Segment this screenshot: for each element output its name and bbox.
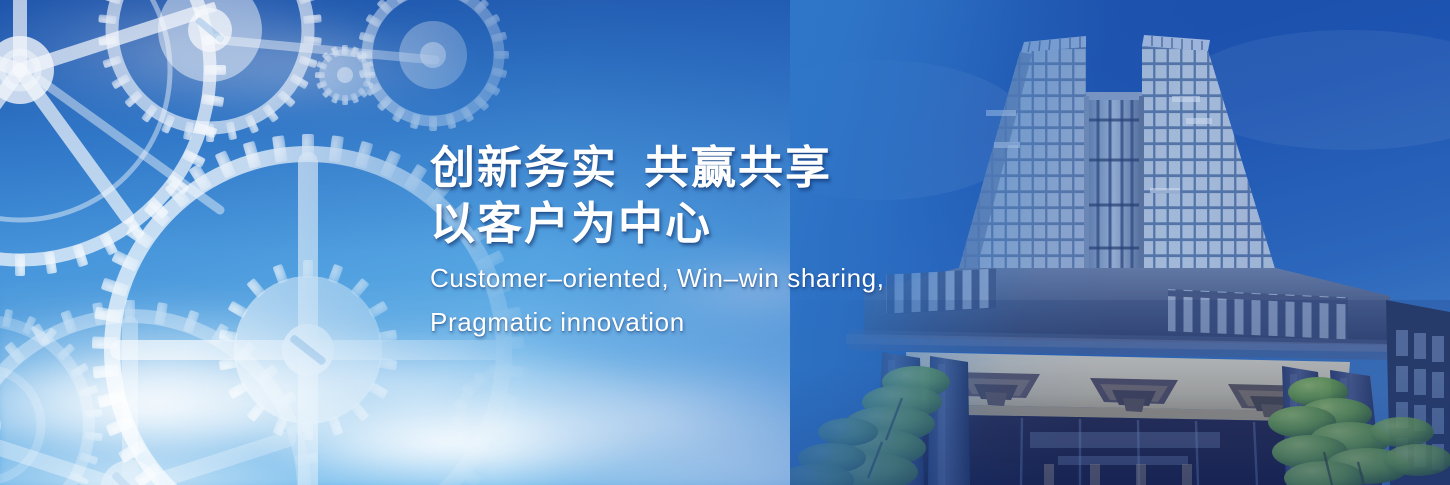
headline-1-right: 共赢共享 [644, 142, 832, 193]
headline-2-left: 以客户为中心 [430, 198, 712, 249]
headline-line-1: 创新务实共赢共享 [430, 140, 990, 196]
headline-line-2: 以客户为中心 [430, 196, 990, 252]
subtitle-line-1: Customer–oriented, Win–win sharing, [430, 252, 990, 296]
subtitle-line-2: Pragmatic innovation [430, 296, 990, 340]
slogan-text-block: 创新务实共赢共享 以客户为中心 Customer–oriented, Win–w… [430, 140, 990, 340]
headline-1-left: 创新务实 [430, 142, 618, 193]
gear-medium-top [98, 0, 322, 142]
gear-small-upper-right [357, 0, 509, 131]
hero-banner: 创新务实共赢共享 以客户为中心 Customer–oriented, Win–w… [0, 0, 1450, 485]
